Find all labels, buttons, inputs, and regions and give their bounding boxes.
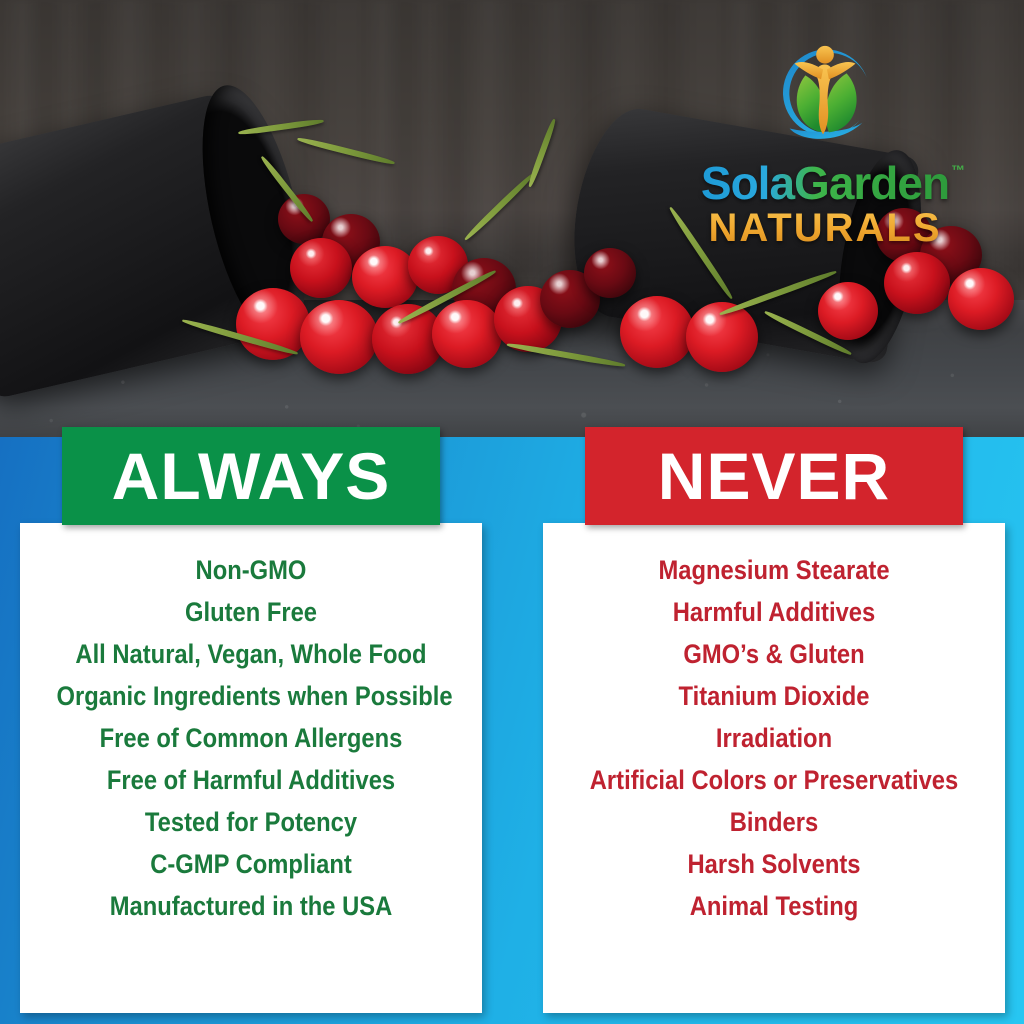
list-item: Tested for Potency [57,801,446,843]
list-item: Binders [580,801,969,843]
cherry [818,282,878,340]
cherry [300,300,378,374]
never-column: NEVER Magnesium Stearate Harmful Additiv… [543,427,1005,1013]
always-column: ALWAYS Non-GMO Gluten Free All Natural, … [20,427,482,1013]
hero-photo: SolaGarden ™ NATURALS [0,0,1024,437]
list-item: C-GMP Compliant [57,843,446,885]
cherry [352,246,418,308]
always-list: Non-GMO Gluten Free All Natural, Vegan, … [30,549,472,927]
logo-wordmark: SolaGarden [701,160,949,206]
cherry [948,268,1014,330]
list-item: Non-GMO [57,549,446,591]
infographic-poster: SolaGarden ™ NATURALS ALWAYS Non-GMO Glu… [0,0,1024,1024]
cherry [884,252,950,314]
list-item: Gluten Free [57,591,446,633]
list-item: Artificial Colors or Preservatives [580,759,969,801]
cherry [584,248,636,298]
never-list: Magnesium Stearate Harmful Additives GMO… [553,549,995,927]
list-item: Free of Harmful Additives [57,759,446,801]
always-card: Non-GMO Gluten Free All Natural, Vegan, … [20,523,482,1013]
list-item: Irradiation [580,717,969,759]
list-item: Animal Testing [580,885,969,927]
list-item: Manufactured in the USA [57,885,446,927]
logo-subtitle: NATURALS [660,208,990,248]
always-header: ALWAYS [62,427,440,525]
cherry [432,300,502,368]
cherry [290,238,352,298]
list-item: All Natural, Vegan, Whole Food [57,633,446,675]
list-item: Organic Ingredients when Possible [57,675,446,717]
list-item: Magnesium Stearate [580,549,969,591]
trademark-symbol: ™ [951,162,965,178]
list-item: Titanium Dioxide [580,675,969,717]
brand-logo: SolaGarden ™ NATURALS [660,38,990,253]
cherry [620,296,694,368]
list-item: GMO’s & Gluten [580,633,969,675]
list-item: Free of Common Allergens [57,717,446,759]
never-card: Magnesium Stearate Harmful Additives GMO… [543,523,1005,1013]
list-item: Harmful Additives [580,591,969,633]
never-header: NEVER [585,427,963,525]
person-leaf-circle-logo-icon [766,38,884,156]
list-item: Harsh Solvents [580,843,969,885]
